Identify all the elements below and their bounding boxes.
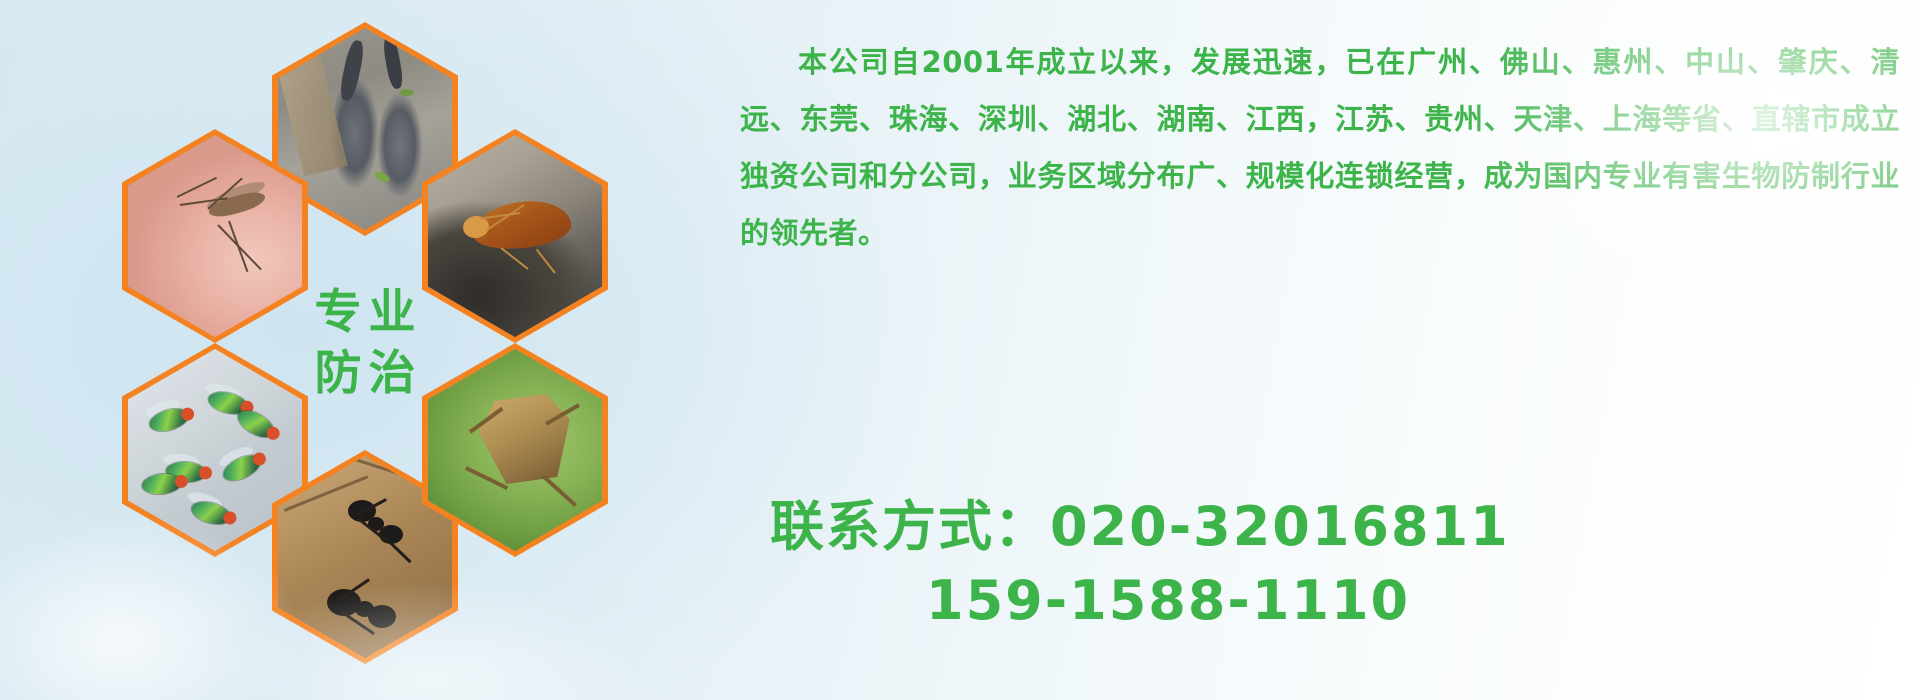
brand-word-line1: 专业: [308, 289, 423, 336]
intro-paragraph: 本公司自2001年成立以来，发展迅速，已在广州、佛山、惠州、中山、肇庆、清远、东…: [740, 34, 1900, 262]
intro-copy-block: 本公司自2001年成立以来，发展迅速，已在广州、佛山、惠州、中山、肇庆、清远、东…: [740, 34, 1900, 262]
hex-photo-cluster: 专业 防治: [96, 0, 616, 700]
contact-block: 联系方式：020-32016811 159-1588-1110: [770, 490, 1890, 638]
contact-line-landline[interactable]: 联系方式：020-32016811: [770, 490, 1890, 564]
contact-line-mobile[interactable]: 159-1588-1110: [770, 564, 1890, 638]
brand-word-line2: 防治: [308, 350, 423, 397]
promo-banner: 专业 防治 本公司自2001年成立以来，发展迅速，已在广州、佛山、惠州、中山、肇…: [0, 0, 1920, 700]
